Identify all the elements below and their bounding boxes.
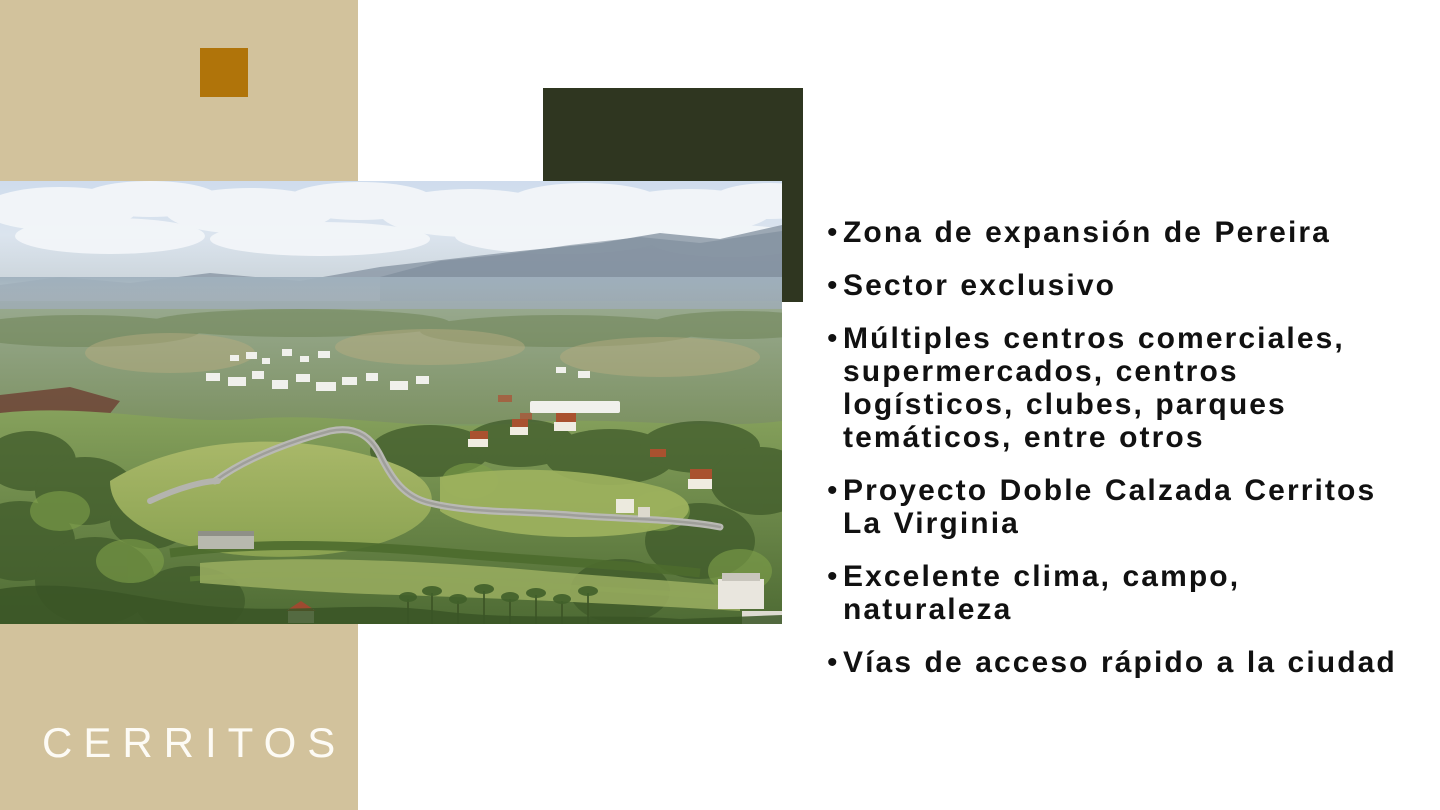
orange-square-decor <box>200 48 248 97</box>
bullet-point-icon: • <box>827 646 843 679</box>
bullet-point-icon: • <box>827 269 843 302</box>
list-item: • Proyecto Doble Calzada Cerritos La Vir… <box>827 474 1402 540</box>
presentation-slide: CERRITOS • Zona de expansión de Pereira … <box>0 0 1440 810</box>
list-item-label: Vías de acceso rápido a la ciudad <box>843 646 1402 679</box>
aerial-landscape-illustration <box>0 181 782 624</box>
list-item-label: Proyecto Doble Calzada Cerritos La Virgi… <box>843 474 1402 540</box>
list-item-label: Excelente clima, campo, naturaleza <box>843 560 1402 626</box>
list-item-label: Múltiples centros comerciales, supermerc… <box>843 322 1402 454</box>
bullet-point-icon: • <box>827 322 843 355</box>
bullet-point-icon: • <box>827 560 843 593</box>
list-item-label: Sector exclusivo <box>843 269 1402 302</box>
list-item: • Excelente clima, campo, naturaleza <box>827 560 1402 626</box>
page-title: CERRITOS <box>42 722 346 764</box>
bullet-point-icon: • <box>827 216 843 249</box>
aerial-landscape-photo <box>0 181 782 624</box>
list-item-label: Zona de expansión de Pereira <box>843 216 1402 249</box>
bullet-list: • Zona de expansión de Pereira • Sector … <box>827 216 1402 679</box>
list-item: • Zona de expansión de Pereira <box>827 216 1402 249</box>
bullet-point-icon: • <box>827 474 843 507</box>
list-item: • Sector exclusivo <box>827 269 1402 302</box>
list-item: • Vías de acceso rápido a la ciudad <box>827 646 1402 679</box>
list-item: • Múltiples centros comerciales, superme… <box>827 322 1402 454</box>
